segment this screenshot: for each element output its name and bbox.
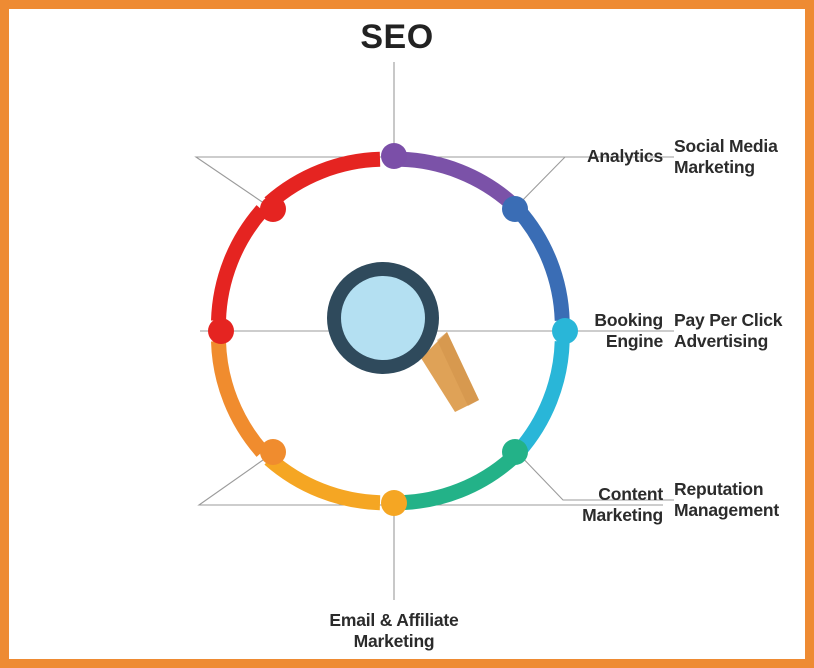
node-content-marketing[interactable] [381, 490, 407, 516]
segment-analytics[interactable] [219, 210, 263, 321]
node-email-affiliate-marketing[interactable] [502, 439, 528, 465]
infographic-canvas: SEO Analytics Booking Engine Content Mar… [0, 0, 814, 668]
label-reputation-management[interactable]: Reputation Management [674, 479, 809, 521]
magnifier-lens [341, 276, 425, 360]
node-top-left-red[interactable] [260, 196, 286, 222]
node-social-media-marketing[interactable] [381, 143, 407, 169]
segment-reputation-management[interactable] [518, 341, 562, 452]
label-pay-per-click-advertising[interactable]: Pay Per Click Advertising [674, 310, 809, 352]
node-analytics[interactable] [208, 318, 234, 344]
segment-content-marketing[interactable] [269, 459, 380, 503]
segment-gap-top-left [269, 159, 380, 203]
label-email-affiliate-marketing[interactable]: Email & Affiliate Marketing [294, 610, 494, 652]
magnifying-glass-icon [327, 262, 479, 412]
label-analytics[interactable]: Analytics [463, 146, 663, 167]
page-title: SEO [297, 18, 497, 57]
label-booking-engine[interactable]: Booking Engine [463, 310, 663, 352]
segment-booking-engine[interactable] [219, 341, 263, 452]
segment-pay-per-click-advertising[interactable] [518, 210, 562, 321]
label-content-marketing[interactable]: Content Marketing [463, 484, 663, 526]
node-booking-engine[interactable] [260, 439, 286, 465]
label-social-media-marketing[interactable]: Social Media Marketing [674, 136, 809, 178]
node-pay-per-click-advertising[interactable] [502, 196, 528, 222]
